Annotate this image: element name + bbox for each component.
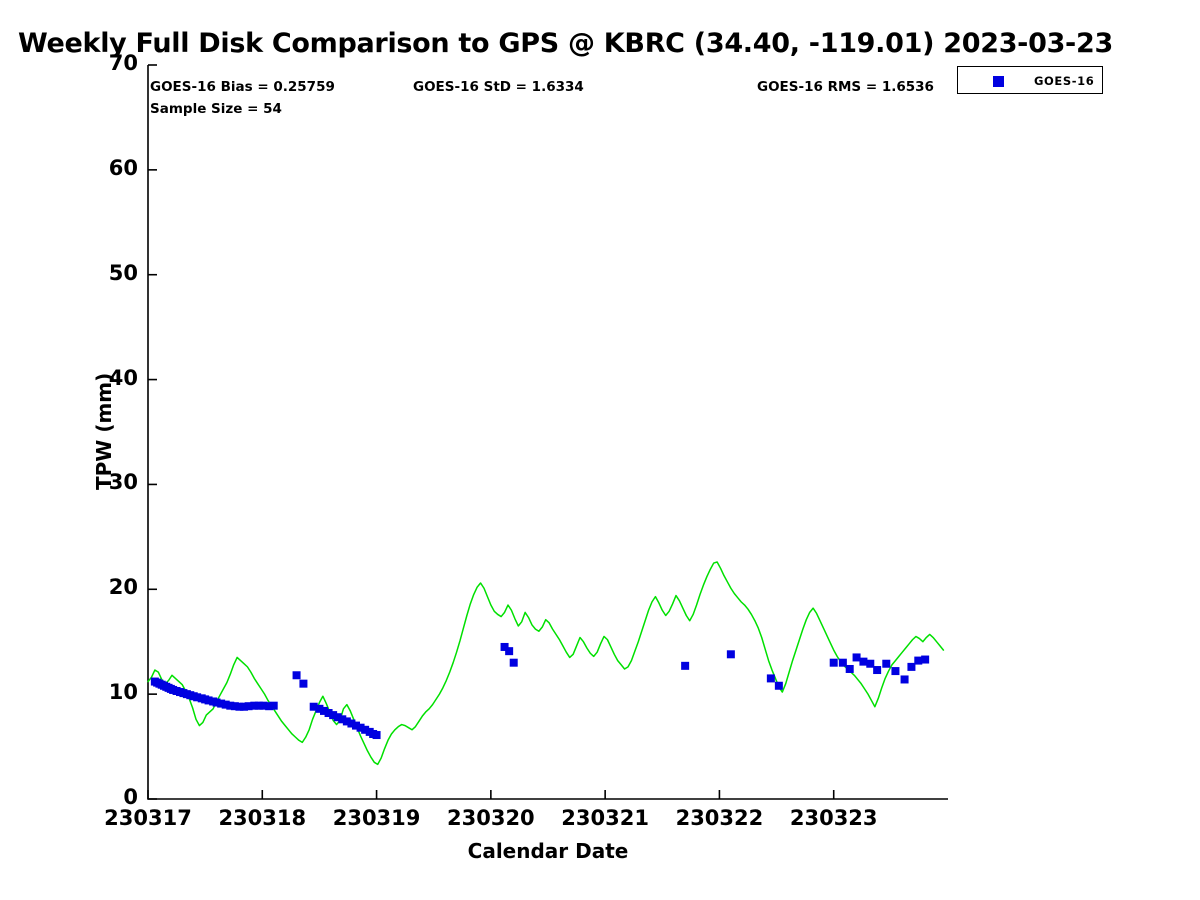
y-tick-label: 20 bbox=[60, 575, 138, 599]
gps-line-series bbox=[148, 562, 943, 764]
x-axis-label: Calendar Date bbox=[348, 839, 748, 863]
x-tick-label: 230323 bbox=[759, 806, 909, 830]
y-tick-label: 40 bbox=[60, 366, 138, 390]
y-tick-label: 30 bbox=[60, 470, 138, 494]
goes16-scatter-series bbox=[151, 643, 929, 739]
y-tick-label: 60 bbox=[60, 156, 138, 180]
y-tick-label: 70 bbox=[60, 51, 138, 75]
y-tick-label: 50 bbox=[60, 261, 138, 285]
plot-area bbox=[0, 0, 1200, 900]
chart-page: Weekly Full Disk Comparison to GPS @ KBR… bbox=[0, 0, 1200, 900]
axes-lines bbox=[148, 65, 948, 799]
y-tick-label: 10 bbox=[60, 680, 138, 704]
